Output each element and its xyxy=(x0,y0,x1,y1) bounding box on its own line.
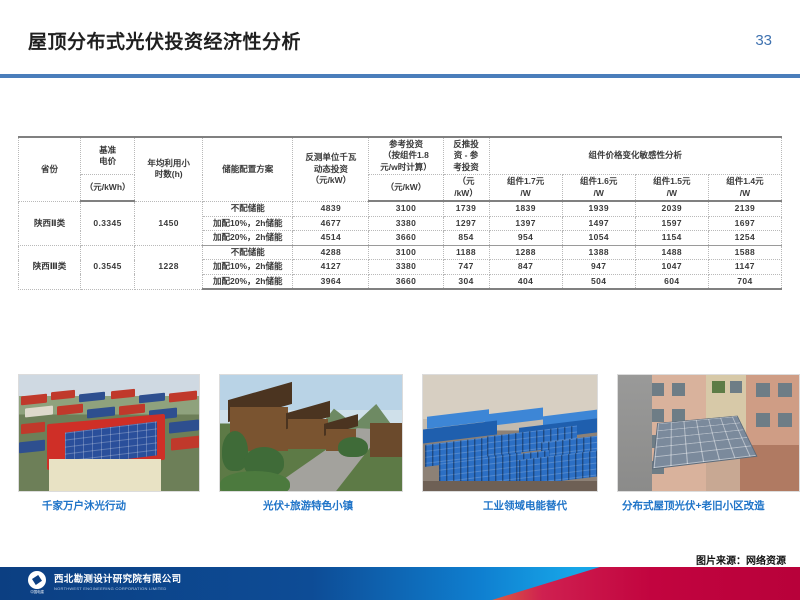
cell-storage-plan: 不配储能 xyxy=(203,201,293,216)
photo-captions: 千家万户沐光行动 光伏+旅游特色小镇 工业领域电能替代 分布式屋顶光伏+老旧小区… xyxy=(18,498,782,520)
cell-unit-investment: 4288 xyxy=(293,245,369,259)
photo-cabin xyxy=(370,423,402,457)
unit-reference-investment: （元/kW） xyxy=(369,175,443,201)
cell-module-1-7: 1839 xyxy=(489,201,562,216)
cell-unit-investment: 3964 xyxy=(293,274,369,289)
cell-diff: 854 xyxy=(443,231,489,245)
photo-pv-tourism-town xyxy=(219,374,403,492)
table-row: 陕西Ⅲ类 0.3545 1228 不配储能 4288 3100 1188 128… xyxy=(19,245,782,259)
company-name-block: 西北勘测设计研究院有限公司 NORTHWEST ENGINEERING CORP… xyxy=(54,575,181,591)
slide-header: 屋顶分布式光伏投资经济性分析 33 xyxy=(0,0,800,78)
photo-house-body xyxy=(49,459,161,492)
col-reference-investment: 参考投资（按组件1.8元/w时计算） xyxy=(369,137,443,175)
photo-window xyxy=(778,413,792,427)
investment-analysis-table: 省份 基准电价 年均利用小时数(h) 储能配置方案 反测单位千瓦动态投资（元/k… xyxy=(18,136,782,290)
photo-caption-3: 工业领域电能替代 xyxy=(483,498,567,513)
col-storage-plan: 储能配置方案 xyxy=(203,137,293,201)
cell-module-1-5: 604 xyxy=(635,274,708,289)
cell-module-1-6: 504 xyxy=(562,274,635,289)
cell-module-1-5: 1154 xyxy=(635,231,708,245)
header-divider xyxy=(0,74,800,78)
photo-window xyxy=(712,381,725,393)
cell-module-1-7: 1397 xyxy=(489,216,562,230)
cell-storage-plan: 不配储能 xyxy=(203,245,293,259)
photo-cabin xyxy=(288,419,328,449)
col-province: 省份 xyxy=(19,137,81,201)
cell-module-1-7: 1288 xyxy=(489,245,562,259)
cell-module-1-4: 1254 xyxy=(708,231,781,245)
col-module-1-5: 组件1.5元/W xyxy=(635,175,708,201)
company-name-cn: 西北勘测设计研究院有限公司 xyxy=(54,575,181,585)
cell-unit-investment: 4677 xyxy=(293,216,369,230)
company-logo: 中国电建 西北勘测设计研究院有限公司 NORTHWEST ENGINEERING… xyxy=(26,571,181,596)
table-row: 陕西Ⅱ类 0.3345 1450 不配储能 4839 3100 1739 183… xyxy=(19,201,782,216)
photo-window xyxy=(756,413,770,427)
cell-storage-plan: 加配10%，2h储能 xyxy=(203,260,293,274)
photo-window xyxy=(650,409,664,422)
photo-window xyxy=(778,383,792,397)
company-name-en: NORTHWEST ENGINEERING CORPORATION LIMITE… xyxy=(54,587,181,592)
cell-module-1-4: 704 xyxy=(708,274,781,289)
cell-module-1-4: 2139 xyxy=(708,201,781,216)
photo-window xyxy=(650,383,664,396)
page-number: 33 xyxy=(755,32,772,49)
cell-reference: 3100 xyxy=(369,245,443,259)
cell-storage-plan: 加配20%，2h储能 xyxy=(203,274,293,289)
photo-ground xyxy=(423,481,598,492)
cell-base-price: 0.3345 xyxy=(81,201,135,245)
cell-diff: 1188 xyxy=(443,245,489,259)
cell-module-1-4: 1697 xyxy=(708,216,781,230)
cell-diff: 1297 xyxy=(443,216,489,230)
col-sensitivity-group: 组件价格变化敏感性分析 xyxy=(489,137,781,175)
photo-caption-1: 千家万户沐光行动 xyxy=(42,498,126,513)
col-annual-hours: 年均利用小时数(h) xyxy=(135,137,203,201)
cell-reference: 3380 xyxy=(369,260,443,274)
cell-diff: 304 xyxy=(443,274,489,289)
cell-module-1-6: 947 xyxy=(562,260,635,274)
cell-unit-investment: 4514 xyxy=(293,231,369,245)
col-diff-investment: 反推投资 - 参考投资 xyxy=(443,137,489,175)
cell-module-1-5: 1047 xyxy=(635,260,708,274)
image-source-note: 图片来源：网络资源 xyxy=(696,552,786,567)
cell-hours: 1450 xyxy=(135,201,203,245)
col-module-1-6: 组件1.6元/W xyxy=(562,175,635,201)
cell-module-1-7: 404 xyxy=(489,274,562,289)
col-unit-investment: 反测单位千瓦动态投资（元/kW） xyxy=(293,137,369,201)
cell-module-1-4: 1147 xyxy=(708,260,781,274)
cell-module-1-5: 1488 xyxy=(635,245,708,259)
photo-strip xyxy=(18,374,782,492)
photo-caption-4: 分布式屋顶光伏+老旧小区改造 xyxy=(622,498,765,513)
cell-base-price: 0.3545 xyxy=(81,245,135,289)
cell-module-1-7: 847 xyxy=(489,260,562,274)
cell-module-1-6: 1388 xyxy=(562,245,635,259)
photo-old-community-rooftop-pv xyxy=(617,374,800,492)
cell-reference: 3660 xyxy=(369,274,443,289)
cell-hours: 1228 xyxy=(135,245,203,289)
page-title: 屋顶分布式光伏投资经济性分析 xyxy=(28,27,301,54)
cell-storage-plan: 加配10%，2h储能 xyxy=(203,216,293,230)
photo-caption-2: 光伏+旅游特色小镇 xyxy=(263,498,353,513)
table-body: 陕西Ⅱ类 0.3345 1450 不配储能 4839 3100 1739 183… xyxy=(19,201,782,289)
cell-province: 陕西Ⅱ类 xyxy=(19,201,81,245)
cell-module-1-6: 1939 xyxy=(562,201,635,216)
cell-diff: 747 xyxy=(443,260,489,274)
cell-module-1-6: 1497 xyxy=(562,216,635,230)
col-module-1-7: 组件1.7元/W xyxy=(489,175,562,201)
photo-window xyxy=(756,383,770,397)
photo-shrub xyxy=(220,471,290,492)
unit-diff-investment: （元/kW） xyxy=(443,175,489,201)
cell-module-1-7: 954 xyxy=(489,231,562,245)
col-base-price: 基准电价 xyxy=(81,137,135,175)
powerchina-logo-icon: 中国电建 xyxy=(26,571,48,596)
photo-window xyxy=(730,381,742,393)
cell-module-1-6: 1054 xyxy=(562,231,635,245)
table-header-row-2: （元/kWh） （元/kW） （元/kW） 组件1.7元/W 组件1.6元/W … xyxy=(19,175,782,201)
cell-province: 陕西Ⅲ类 xyxy=(19,245,81,289)
cell-unit-investment: 4839 xyxy=(293,201,369,216)
cell-diff: 1739 xyxy=(443,201,489,216)
logo-sub-label: 中国电建 xyxy=(26,589,48,595)
cell-module-1-5: 1597 xyxy=(635,216,708,230)
cell-storage-plan: 加配20%，2h储能 xyxy=(203,231,293,245)
table-header-row-1: 省份 基准电价 年均利用小时数(h) 储能配置方案 反测单位千瓦动态投资（元/k… xyxy=(19,137,782,175)
col-module-1-4: 组件1.4元/W xyxy=(708,175,781,201)
unit-base-price: （元/kWh） xyxy=(81,175,135,201)
photo-shrub xyxy=(338,437,368,457)
photo-industrial-rooftop-pv xyxy=(422,374,598,492)
cell-module-1-5: 2039 xyxy=(635,201,708,216)
photo-village-rooftop-pv xyxy=(18,374,200,492)
cell-reference: 3380 xyxy=(369,216,443,230)
cell-unit-investment: 4127 xyxy=(293,260,369,274)
cell-module-1-4: 1588 xyxy=(708,245,781,259)
slide-footer: 中国电建 西北勘测设计研究院有限公司 NORTHWEST ENGINEERING… xyxy=(0,567,800,600)
cell-reference: 3660 xyxy=(369,231,443,245)
photo-street xyxy=(618,374,652,491)
cell-reference: 3100 xyxy=(369,201,443,216)
photo-window xyxy=(672,383,685,396)
logo-circle-icon xyxy=(28,571,46,589)
